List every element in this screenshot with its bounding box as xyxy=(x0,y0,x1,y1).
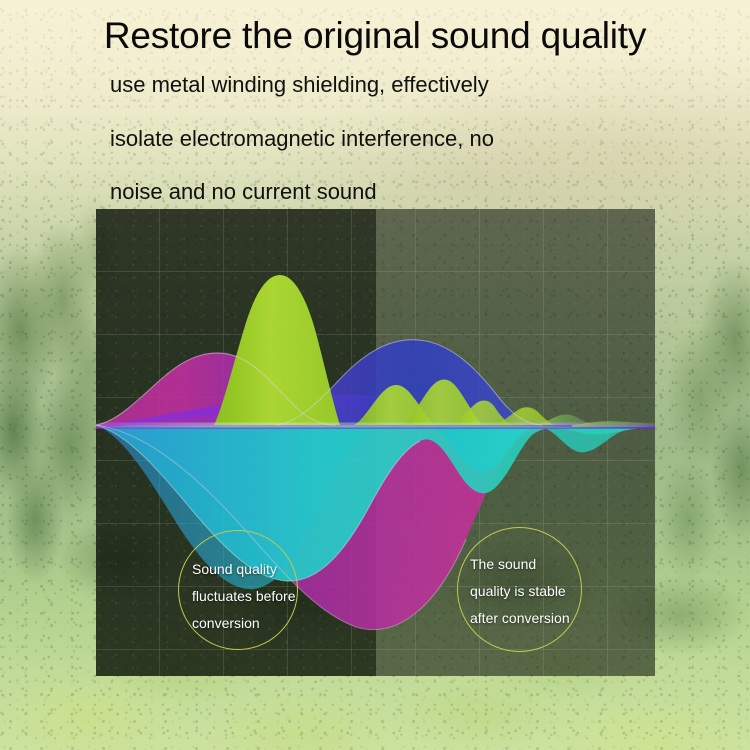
wave-baseline-glow xyxy=(96,423,655,428)
callout-before-line-3: conversion xyxy=(192,610,296,637)
wave-lime-peak xyxy=(214,275,340,425)
promo-banner: Restore the original sound quality use m… xyxy=(0,0,750,750)
subtitle-line-2: isolate electromagnetic interference, no xyxy=(110,126,494,152)
callout-after-line-2: quality is stable xyxy=(470,578,570,605)
page-title: Restore the original sound quality xyxy=(0,14,750,58)
callout-text-before: Sound quality fluctuates before conversi… xyxy=(192,556,296,637)
callout-after-line-3: after conversion xyxy=(470,605,570,632)
subtitle-line-3: noise and no current sound xyxy=(110,179,377,205)
callout-before-line-2: fluctuates before xyxy=(192,583,296,610)
subtitle-line-1: use metal winding shielding, effectively xyxy=(110,72,489,98)
callout-before-line-1: Sound quality xyxy=(192,556,296,583)
callout-after-line-1: The sound xyxy=(470,551,570,578)
callout-text-after: The sound quality is stable after conver… xyxy=(470,551,570,632)
